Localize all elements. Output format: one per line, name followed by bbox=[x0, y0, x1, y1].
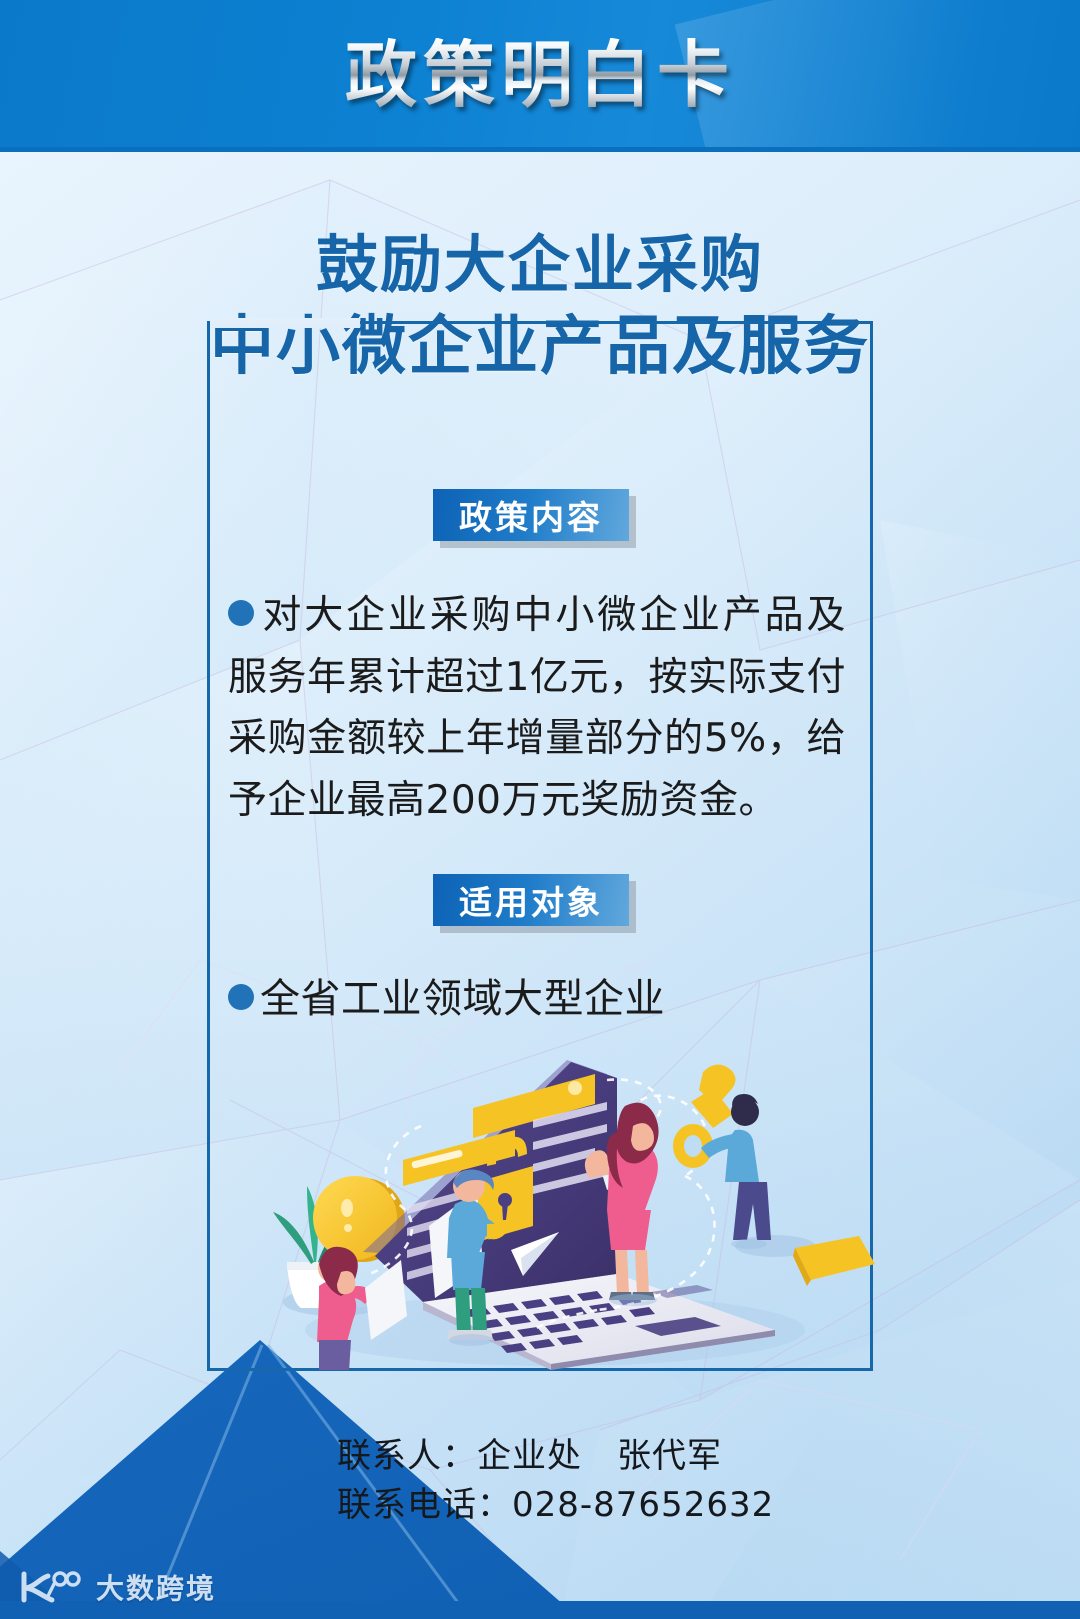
watermark-logo: 大数跨境 bbox=[18, 1567, 216, 1607]
contact-block: 联系人：企业处 张代军 联系电话：028-87652632 bbox=[337, 1432, 997, 1531]
watermark-text: 大数跨境 bbox=[96, 1567, 216, 1607]
contact-phone: 联系电话：028-87652632 bbox=[337, 1481, 997, 1530]
header-divider bbox=[0, 147, 1080, 152]
bullet-icon bbox=[228, 600, 254, 626]
section-badge-applicable-target: 适用对象 bbox=[433, 874, 629, 926]
page-title: 政策明白卡 bbox=[0, 38, 1080, 114]
contact-person: 联系人：企业处 张代军 bbox=[337, 1432, 997, 1481]
frame-top-left-gap bbox=[210, 318, 360, 328]
applicable-target-text: 全省工业领域大型企业 bbox=[228, 968, 846, 1031]
applicable-target-body: 全省工业领域大型企业 bbox=[260, 976, 665, 1022]
policy-content-text: 对大企业采购中小微企业产品及服务年累计超过1亿元，按实际支付采购金额较上年增量部… bbox=[228, 585, 846, 831]
laptop-teamwork-illustration bbox=[215, 1030, 875, 1370]
policy-poster: 政策明白卡 鼓励大企业采购 中小微企业产品及服务 政策内容 对大企业采购中小微企… bbox=[0, 0, 1080, 1619]
header-banner: 政策明白卡 bbox=[0, 0, 1080, 152]
policy-content-body: 对大企业采购中小微企业产品及服务年累计超过1亿元，按实际支付采购金额较上年增量部… bbox=[228, 593, 846, 823]
bullet-icon bbox=[228, 984, 254, 1010]
section-badge-policy-content: 政策内容 bbox=[433, 489, 629, 541]
person-with-wrench bbox=[673, 1064, 771, 1249]
poster-title-line-1: 鼓励大企业采购 bbox=[0, 228, 1080, 301]
k100-logo-icon bbox=[18, 1570, 84, 1604]
